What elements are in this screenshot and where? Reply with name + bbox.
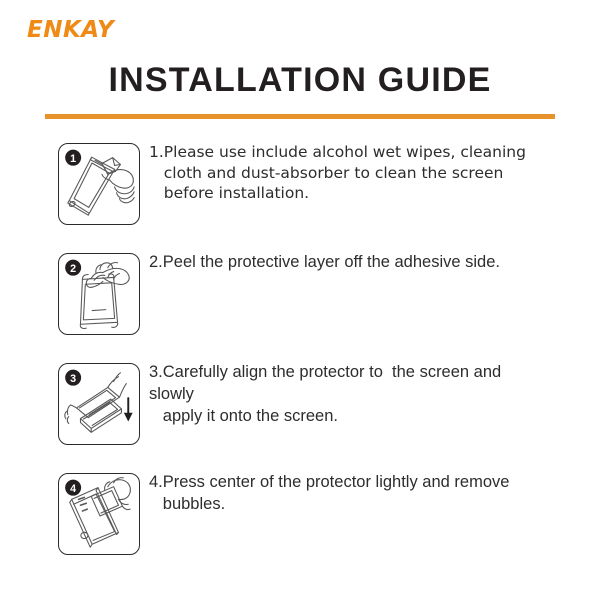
- steps-list: 1 1.Please use include alcohol wet wipes…: [0, 138, 600, 578]
- step-1-badge-number: 1: [70, 153, 76, 165]
- step-3-text: 3.Carefully align the protector to the s…: [149, 362, 549, 428]
- step-3-figure: 3: [58, 363, 140, 445]
- step-2-text: 2.Peel the protective layer off the adhe…: [149, 252, 549, 274]
- step-3-badge-number: 3: [70, 373, 76, 385]
- align-protector-arrow-icon: 3: [59, 364, 139, 444]
- phone-wipe-cloth-icon: 1: [59, 144, 139, 224]
- step-item: 4 4.Press center of the protector lightl…: [0, 468, 600, 578]
- step-2-badge-number: 2: [70, 263, 76, 275]
- page-title: INSTALLATION GUIDE: [0, 62, 600, 99]
- step-2-figure: 2: [58, 253, 140, 335]
- step-item: 2 2.Peel the protective layer off the ad…: [0, 248, 600, 358]
- step-4-badge-number: 4: [70, 483, 76, 495]
- down-arrow-icon: [124, 413, 133, 422]
- step-1-text: 1.Please use include alcohol wet wipes, …: [149, 142, 549, 204]
- step-4-text: 4.Press center of the protector lightly …: [149, 472, 549, 516]
- step-4-figure: 4: [58, 473, 140, 555]
- step-item: 1 1.Please use include alcohol wet wipes…: [0, 138, 600, 248]
- step-item: 3 3.Carefully align the protector to the…: [0, 358, 600, 468]
- step-1-figure: 1: [58, 143, 140, 225]
- title-divider: [45, 114, 555, 119]
- press-center-bubbles-icon: 4: [59, 474, 139, 554]
- brand-logo: ENKAY: [27, 19, 114, 42]
- peel-protective-layer-icon: 2: [59, 254, 139, 334]
